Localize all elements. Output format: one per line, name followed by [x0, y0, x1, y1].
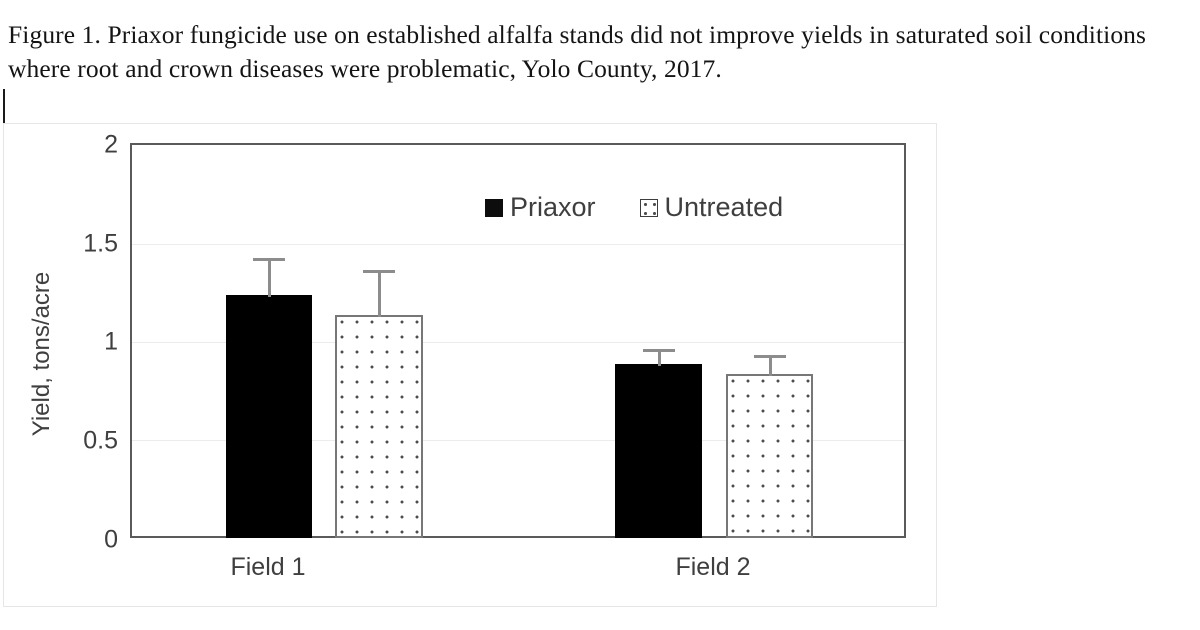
bar-field1-untreated [335, 315, 423, 538]
error-bar-stem-field1-untreated [378, 272, 381, 317]
gridline-1-5 [132, 244, 904, 245]
y-tick-1: 1 [58, 328, 118, 357]
x-tick-field-1: Field 1 [138, 553, 398, 582]
y-axis-ticks: 2 1.5 1 0.5 0 [50, 0, 118, 630]
bar-field2-untreated [726, 374, 813, 538]
legend-label-priaxor: Priaxor [510, 192, 596, 223]
text-caret [3, 89, 5, 125]
legend-swatch-dotted-icon [640, 199, 658, 217]
chart-legend: Priaxor Untreated [485, 192, 783, 223]
y-axis-title: Yield, tons/acre [28, 224, 56, 484]
bar-field1-priaxor [226, 295, 312, 538]
error-bar-cap-field1-untreated [363, 270, 395, 273]
error-bar-stem-field2-priaxor [658, 351, 661, 366]
legend-label-untreated: Untreated [665, 192, 784, 223]
error-bar-cap-field2-priaxor [643, 349, 675, 352]
legend-swatch-solid-icon [485, 199, 503, 217]
legend-item-untreated: Untreated [640, 192, 784, 223]
y-tick-1-5: 1.5 [58, 230, 118, 259]
y-tick-2: 2 [58, 131, 118, 160]
x-tick-field-2: Field 2 [583, 553, 843, 582]
figure-caption: Figure 1. Priaxor fungicide use on estab… [8, 18, 1192, 86]
legend-item-priaxor: Priaxor [485, 192, 596, 223]
error-bar-cap-field1-priaxor [253, 258, 285, 261]
y-tick-0-5: 0.5 [58, 427, 118, 456]
y-tick-0: 0 [58, 526, 118, 555]
error-bar-stem-field1-priaxor [268, 260, 271, 297]
error-bar-stem-field2-untreated [769, 357, 772, 376]
bar-field2-priaxor [615, 364, 702, 538]
error-bar-cap-field2-untreated [754, 355, 786, 358]
